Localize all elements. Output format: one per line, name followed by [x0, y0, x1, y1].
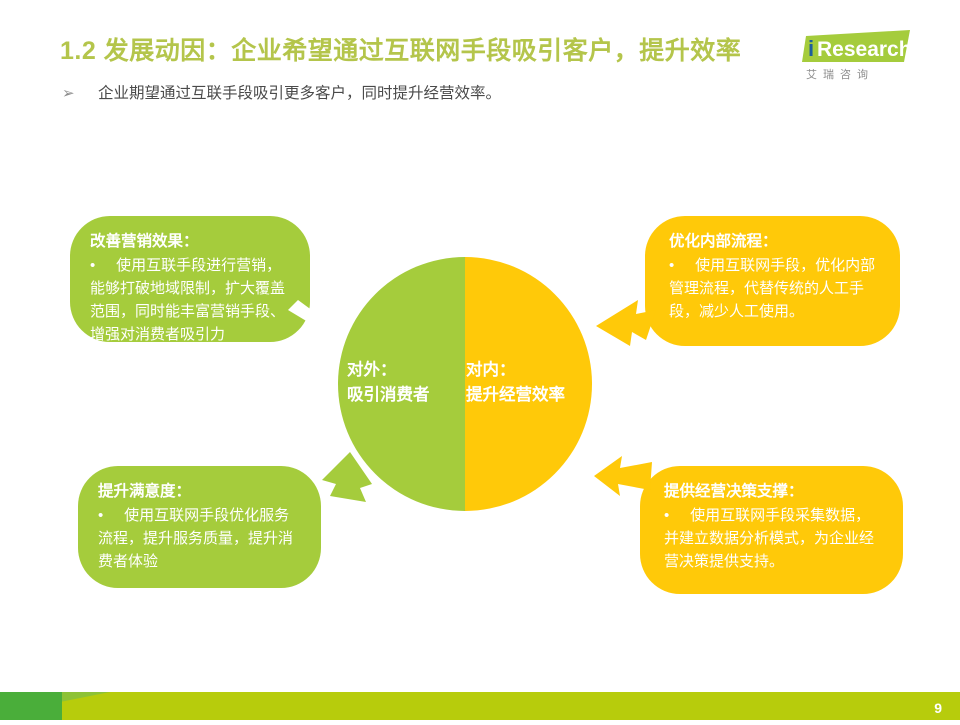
callout-decision-support-title: 提供经营决策支撑： — [664, 480, 883, 503]
page-number: 9 — [934, 700, 942, 716]
summary-bullet-text: 企业期望通过互联手段吸引更多客户，同时提升经营效率。 — [98, 83, 501, 105]
summary-bullet: ➢ 企业期望通过互联手段吸引更多客户，同时提升经营效率。 — [62, 83, 501, 105]
circle-label-internal-line1: 对内： — [466, 358, 565, 383]
circle-label-external-line2: 吸引消费者 — [347, 383, 430, 408]
callout-marketing-title: 改善营销效果： — [90, 230, 290, 253]
callout-marketing-body: • 使用互联手段进行营销，能够打破地域限制，扩大覆盖范围，同时能丰富营销手段、增… — [90, 254, 290, 346]
callout-decision-support-body: • 使用互联网手段采集数据，并建立数据分析模式，为企业经营决策提供支持。 — [664, 504, 883, 573]
circle-label-external: 对外： 吸引消费者 — [347, 358, 430, 408]
circle-label-external-line1: 对外： — [347, 358, 430, 383]
arrow-hub-to-decision — [592, 452, 656, 500]
callout-satisfaction-title: 提升满意度： — [98, 480, 301, 503]
footer-wedge-dark — [0, 692, 62, 720]
callout-internal-process-body: • 使用互联网手段，优化内部管理流程，代替传统的人工手段，减少人工使用。 — [669, 254, 880, 323]
iresearch-logo: i Research 艾瑞咨询 — [798, 28, 918, 84]
page-title: 1.2 发展动因：企业希望通过互联网手段吸引客户，提升效率 — [60, 31, 741, 67]
callout-decision-support: 提供经营决策支撑： • 使用互联网手段采集数据，并建立数据分析模式，为企业经营决… — [640, 466, 903, 594]
arrow-satisfaction-to-hub — [314, 450, 378, 506]
circle-label-internal: 对内： 提升经营效率 — [466, 358, 565, 408]
circle-label-internal-line2: 提升经营效率 — [466, 383, 565, 408]
arrow-hub-to-internal — [592, 292, 662, 350]
footer-bar: 9 — [0, 692, 960, 720]
callout-internal-process-title: 优化内部流程： — [669, 230, 880, 253]
callout-internal-process: 优化内部流程： • 使用互联网手段，优化内部管理流程，代替传统的人工手段，减少人… — [645, 216, 900, 346]
callout-marketing: 改善营销效果： • 使用互联手段进行营销，能够打破地域限制，扩大覆盖范围，同时能… — [70, 216, 310, 342]
arrow-marketing-to-hub — [284, 296, 362, 358]
bullet-arrow-icon: ➢ — [62, 83, 98, 105]
callout-satisfaction-body: • 使用互联网手段优化服务流程，提升服务质量，提升消费者体验 — [98, 504, 301, 573]
logo-letter-i: i — [808, 36, 814, 61]
callout-satisfaction: 提升满意度： • 使用互联网手段优化服务流程，提升服务质量，提升消费者体验 — [78, 466, 321, 588]
logo-chinese-name: 艾瑞咨询 — [806, 67, 874, 81]
logo-wordmark: Research — [817, 38, 912, 61]
